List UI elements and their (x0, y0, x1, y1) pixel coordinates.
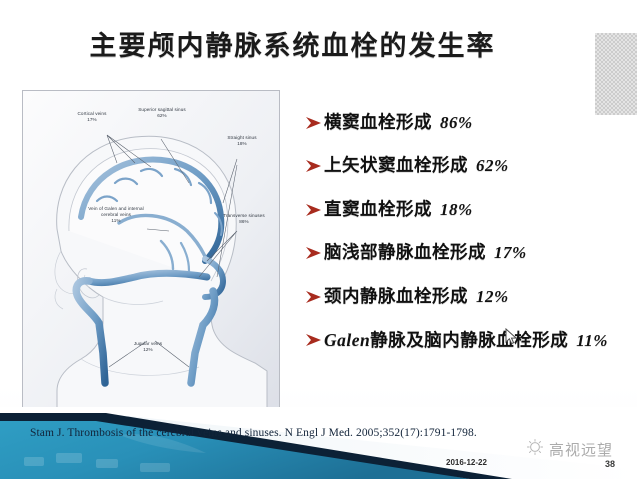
watermark-text: 高视远望 (549, 439, 613, 460)
mouse-cursor-icon (505, 328, 518, 351)
arrow-bullet-icon (305, 116, 322, 132)
arrow-bullet-icon (305, 333, 322, 349)
figure-label-vein-of-galen: Vein of Galen and internal cerebral vein… (85, 206, 147, 225)
list-item: 直窦血栓形成18% (305, 199, 630, 221)
anatomy-figure: Cortical veins17% Superior sagittal sinu… (22, 90, 280, 415)
list-item-text: 脑浅部静脉血栓形成17% (324, 242, 527, 264)
slide-canvas: 主要颅内静脉系统血栓的发生率 (0, 0, 637, 479)
list-item: Galen静脉及脑内静脉血栓形成11% (305, 329, 630, 352)
figure-label-transverse-sinuses: Transverse sinuses86% (219, 213, 269, 225)
list-item-text: Galen静脉及脑内静脉血栓形成11% (324, 329, 608, 352)
sun-logo-icon (525, 438, 545, 461)
list-item: 上矢状窦血栓形成62% (305, 155, 630, 177)
list-item-text: 直窦血栓形成18% (324, 199, 473, 221)
figure-label-cortical-veins: Cortical veins17% (63, 111, 121, 123)
citation-text: Stam J. Thrombosis of the cerebral veins… (30, 427, 550, 439)
arrow-bullet-icon (305, 246, 322, 262)
list-item: 颈内静脉血栓形成12% (305, 286, 630, 308)
arrow-bullet-icon (305, 203, 322, 219)
arrow-bullet-icon (305, 290, 322, 306)
figure-label-jugular-veins: Jugular veins12% (121, 341, 175, 353)
slide-date: 2016-12-22 (446, 458, 487, 467)
list-item-text: 颈内静脉血栓形成12% (324, 286, 509, 308)
figure-label-superior-sagittal-sinus: Superior sagittal sinus62% (136, 107, 188, 119)
figure-label-straight-sinus: Straight sinus18% (221, 135, 263, 147)
watermark: 高视远望 (525, 438, 613, 461)
arrow-bullet-icon (305, 159, 322, 175)
list-item-text: 横窦血栓形成86% (324, 112, 473, 134)
incidence-bullet-list: 横窦血栓形成86% 上矢状窦血栓形成62% 直窦血栓形成18% (305, 112, 630, 373)
page-title: 主要颅内静脉系统血栓的发生率 (0, 24, 585, 63)
list-item: 脑浅部静脉血栓形成17% (305, 242, 630, 264)
list-item-text: 上矢状窦血栓形成62% (324, 155, 509, 177)
decorative-grey-band (595, 33, 637, 115)
list-item: 横窦血栓形成86% (305, 112, 630, 134)
